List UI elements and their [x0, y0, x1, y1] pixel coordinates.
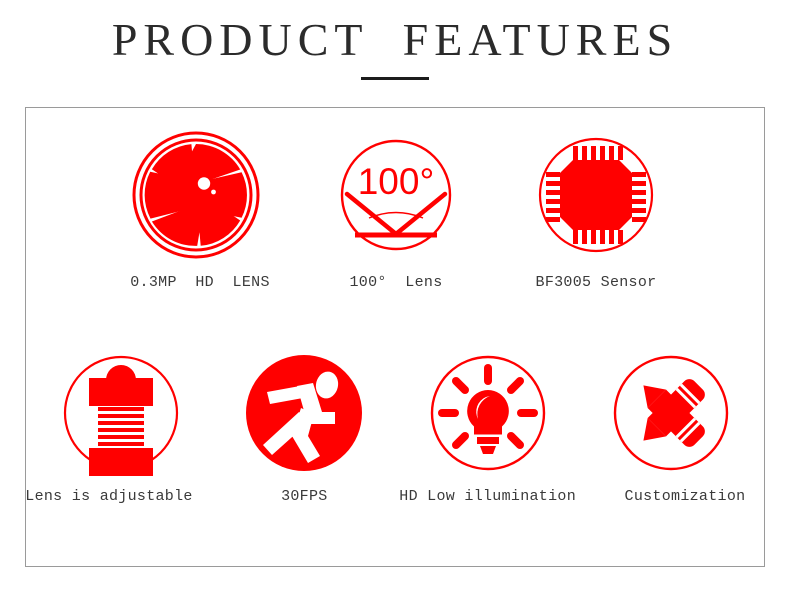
feature-item-framerate[interactable]: 30FPS: [213, 348, 395, 505]
viewing-angle-value: 100°: [358, 161, 435, 202]
feature-item-viewing-angle[interactable]: 100° 100° Lens: [296, 130, 496, 291]
feature-label: HD Low illumination: [399, 488, 576, 505]
features-row-1: 0.3MP HD LENS 100° 100° Lens: [26, 130, 766, 291]
feature-label: 100° Lens: [349, 274, 442, 291]
light-bulb-icon: [423, 348, 553, 478]
sensor-chip-icon: [531, 130, 661, 260]
crossed-pencils-icon: [606, 348, 736, 478]
adjustable-bolt-icon: [56, 348, 186, 478]
feature-item-adjustable-lens[interactable]: Lens is adjustable: [30, 348, 212, 505]
feature-item-low-illumination[interactable]: HD Low illumination: [397, 348, 579, 505]
feature-label: Lens is adjustable: [25, 488, 192, 505]
features-row-2: Lens is adjustable: [26, 348, 766, 505]
running-man-icon: [239, 348, 369, 478]
viewing-angle-icon: 100°: [331, 130, 461, 260]
title-underline-rule: [361, 77, 429, 80]
page-header: PRODUCT FEATURES: [0, 14, 790, 80]
feature-label: Customization: [625, 488, 746, 505]
feature-item-sensor[interactable]: BF3005 Sensor: [496, 130, 696, 291]
feature-label: 30FPS: [281, 488, 328, 505]
feature-label: BF3005 Sensor: [536, 274, 657, 291]
features-panel: 0.3MP HD LENS 100° 100° Lens: [25, 107, 765, 567]
feature-item-lens-resolution[interactable]: 0.3MP HD LENS: [96, 130, 296, 291]
feature-label: 0.3MP HD LENS: [130, 274, 270, 291]
feature-item-customization[interactable]: Customization: [580, 348, 762, 505]
camera-aperture-icon: [131, 130, 261, 260]
page-title: PRODUCT FEATURES: [0, 14, 790, 67]
